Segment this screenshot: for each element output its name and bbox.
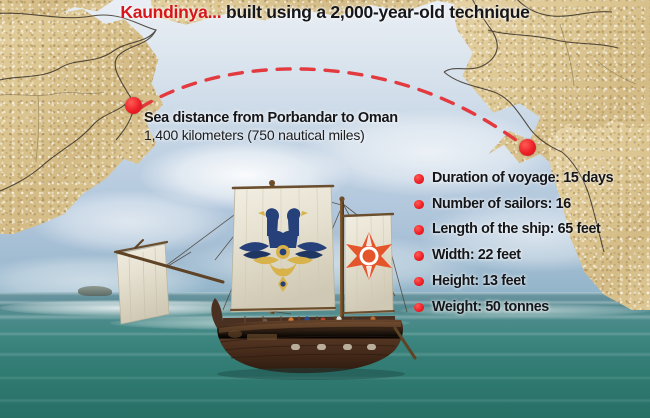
ship-kaundinya	[95, 178, 425, 378]
sea-distance-callout: Sea distance from Porbandar to Oman 1,40…	[144, 110, 398, 143]
hull-reflection	[217, 368, 405, 380]
sea-distance-heading: Sea distance from Porbandar to Oman	[144, 110, 398, 126]
mast-top	[269, 180, 275, 186]
infographic-canvas: Sea distance from Porbandar to Oman 1,40…	[0, 0, 650, 418]
headline-accent: Kaundinya...	[120, 2, 221, 22]
fore-sail	[343, 214, 394, 314]
stern-post	[211, 298, 223, 328]
main-sail	[231, 186, 335, 312]
porbandar-marker[interactable]	[519, 139, 536, 156]
spec-item-weight: Weight: 50 tonnes	[414, 299, 646, 316]
sea-distance-subheading: 1,400 kilometers (750 nautical miles)	[144, 127, 398, 143]
ship-specs-list: Duration of voyage: 15 days Number of sa…	[414, 170, 646, 324]
mast-top	[339, 196, 344, 201]
hull-nameplate	[247, 334, 277, 340]
fore-mast	[340, 200, 344, 318]
spec-item-width: Width: 22 feet	[414, 247, 646, 264]
headline-band: Kaundinya... built using a 2,000-year-ol…	[0, 0, 650, 50]
page-title: Kaundinya... built using a 2,000-year-ol…	[25, 1, 625, 24]
headline-rest: built using a 2,000-year-old technique	[221, 2, 529, 22]
hull-port	[228, 330, 242, 338]
spec-item-duration: Duration of voyage: 15 days	[414, 170, 646, 187]
spec-item-height: Height: 13 feet	[414, 273, 646, 290]
spec-item-length: Length of the ship: 65 feet	[414, 221, 646, 238]
spec-item-sailors: Number of sailors: 16	[414, 196, 646, 213]
oman-marker[interactable]	[125, 97, 142, 114]
